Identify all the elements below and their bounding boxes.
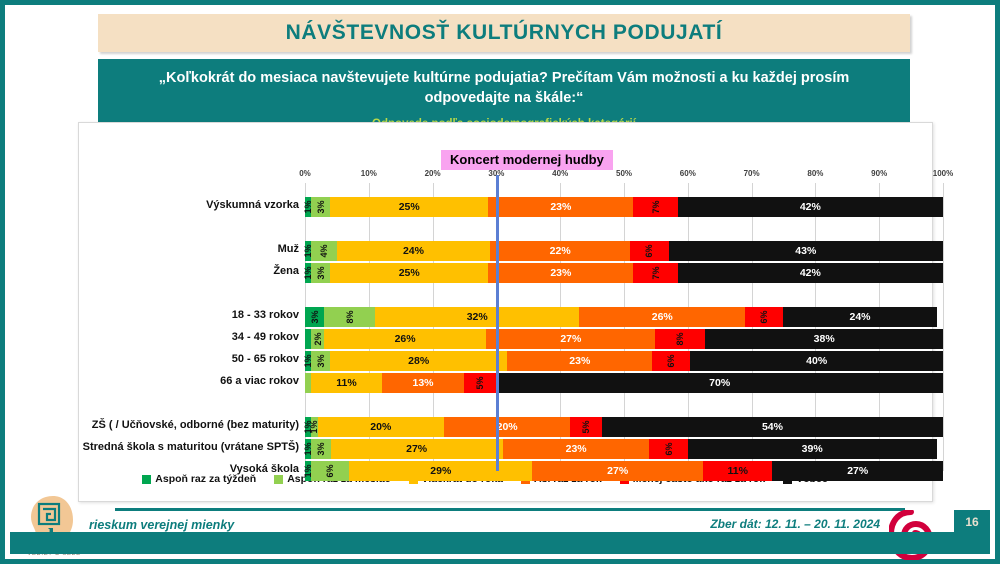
bar-segment: 13% bbox=[382, 373, 465, 393]
chart-row: 66 a viac rokov11%13%5%70% bbox=[305, 373, 943, 393]
bar-segment: 2% bbox=[311, 329, 324, 349]
bar-segment-value: 38% bbox=[814, 333, 835, 345]
bar-segment: 27% bbox=[772, 461, 943, 481]
bar-segment-value: 4% bbox=[319, 243, 329, 259]
bar-segment: 25% bbox=[330, 263, 488, 283]
bar-segment: 6% bbox=[652, 351, 690, 371]
bar-segment-value: 32% bbox=[467, 311, 488, 323]
bar-segment-value: 54% bbox=[762, 421, 783, 433]
stacked-bar: 1%3%28%23%6%40% bbox=[305, 351, 943, 371]
bar-segment-value: 29% bbox=[430, 465, 451, 477]
x-axis-tick-label: 80% bbox=[807, 169, 823, 178]
stacked-bar-chart: 0%10%20%30%40%50%60%70%80%90%100%Výskumn… bbox=[305, 183, 943, 471]
bar-segment-value: 27% bbox=[406, 443, 427, 455]
bar-segment: 20% bbox=[318, 417, 444, 437]
bar-segment: 5% bbox=[570, 417, 602, 437]
chart-row: 34 - 49 rokov2%26%27%8%38% bbox=[305, 329, 943, 349]
bar-segment-value: 6% bbox=[325, 463, 335, 479]
bar-segment: 70% bbox=[496, 373, 943, 393]
bar-segment: 3% bbox=[311, 351, 330, 371]
bar-segment: 42% bbox=[678, 197, 943, 217]
bar-segment-value: 42% bbox=[800, 267, 821, 279]
chart-row: Žena1%3%25%23%7%42% bbox=[305, 263, 943, 283]
row-category-label: Výskumná vzorka bbox=[206, 199, 299, 211]
annotation-marker-line bbox=[496, 175, 499, 471]
chart-row: Muž1%4%24%22%6%43% bbox=[305, 241, 943, 261]
bar-segment-value: 42% bbox=[800, 201, 821, 213]
stacked-bar: 1%4%24%22%6%43% bbox=[305, 241, 943, 261]
bar-segment: 8% bbox=[324, 307, 375, 327]
bar-segment: 29% bbox=[349, 461, 532, 481]
bar-segment-value: 6% bbox=[666, 353, 676, 369]
bar-segment: 24% bbox=[337, 241, 490, 261]
footer-tagline: rieskum verejnej mienky bbox=[89, 518, 234, 532]
bar-segment: 32% bbox=[375, 307, 579, 327]
x-axis-tick-label: 100% bbox=[933, 169, 953, 178]
bar-segment: 27% bbox=[331, 439, 503, 459]
bar-segment: 40% bbox=[690, 351, 943, 371]
bar-segment-value: 3% bbox=[310, 309, 320, 325]
bar-segment: 7% bbox=[633, 197, 677, 217]
row-category-label: 18 - 33 rokov bbox=[232, 309, 299, 321]
bar-segment: 4% bbox=[311, 241, 337, 261]
bar-segment: 11% bbox=[703, 461, 772, 481]
bar-segment: 3% bbox=[311, 439, 330, 459]
stacked-bar: 1%3%25%23%7%42% bbox=[305, 263, 943, 283]
bar-segment-value: 23% bbox=[550, 201, 571, 213]
bar-segment-value: 39% bbox=[802, 443, 823, 455]
stacked-bar: 1%3%25%23%7%42% bbox=[305, 197, 943, 217]
bar-segment-value: 20% bbox=[370, 421, 391, 433]
bar-segment: 5% bbox=[464, 373, 496, 393]
stacked-bar: 1%1%20%20%5%54% bbox=[305, 417, 943, 437]
bar-segment-value: 20% bbox=[497, 421, 518, 433]
bar-segment: 27% bbox=[532, 461, 703, 481]
bar-segment-value: 6% bbox=[644, 243, 654, 259]
stacked-bar: 11%13%5%70% bbox=[305, 373, 943, 393]
bar-segment-value: 8% bbox=[675, 331, 685, 347]
bar-segment-value: 13% bbox=[413, 377, 434, 389]
row-category-label: 50 - 65 rokov bbox=[232, 353, 299, 365]
chart-row: ZŠ ( / Učňovské, odborné (bez maturity)1… bbox=[305, 417, 943, 437]
chart-row: Výskumná vzorka1%3%25%23%7%42% bbox=[305, 197, 943, 217]
bar-segment: 6% bbox=[745, 307, 783, 327]
legend-swatch-icon bbox=[274, 475, 283, 484]
bar-segment: 27% bbox=[486, 329, 655, 349]
page-number: 16 bbox=[965, 515, 978, 529]
bar-segment-value: 3% bbox=[316, 199, 326, 215]
bar-segment: 26% bbox=[324, 329, 487, 349]
row-category-label: Žena bbox=[273, 265, 299, 277]
bar-segment: 23% bbox=[488, 197, 633, 217]
x-axis-tick-label: 0% bbox=[299, 169, 311, 178]
footer-date: Zber dát: 12. 11. – 20. 11. 2024 bbox=[710, 517, 880, 531]
bar-segment-value: 3% bbox=[316, 441, 326, 457]
bar-segment: 28% bbox=[330, 351, 507, 371]
bar-segment-value: 6% bbox=[759, 309, 769, 325]
bar-segment-value: 25% bbox=[399, 267, 420, 279]
stacked-bar: 1%6%29%27%11%27% bbox=[305, 461, 943, 481]
bar-segment: 42% bbox=[678, 263, 943, 283]
bar-segment-value: 11% bbox=[336, 377, 356, 389]
legend-label: Aspoň raz za týždeň bbox=[155, 473, 256, 485]
bar-segment: 7% bbox=[633, 263, 677, 283]
stacked-bar: 2%26%27%8%38% bbox=[305, 329, 943, 349]
bar-segment: 54% bbox=[602, 417, 943, 437]
x-axis-tick-label: 20% bbox=[425, 169, 441, 178]
bar-segment-value: 24% bbox=[403, 245, 424, 257]
bar-segment: 8% bbox=[655, 329, 705, 349]
bar-segment-value: 26% bbox=[652, 311, 673, 323]
bar-segment-value: 24% bbox=[850, 311, 871, 323]
slide-frame: NÁVŠTEVNOSŤ KULTÚRNYCH PODUJATÍ „Koľkokr… bbox=[0, 0, 1000, 564]
bar-segment: 6% bbox=[311, 461, 349, 481]
bar-segment: 22% bbox=[490, 241, 630, 261]
bar-segment: 3% bbox=[311, 197, 330, 217]
bar-segment-value: 22% bbox=[550, 245, 571, 257]
slide-title-banner: NÁVŠTEVNOSŤ KULTÚRNYCH PODUJATÍ bbox=[98, 14, 910, 52]
bar-segment-value: 40% bbox=[806, 355, 827, 367]
bar-segment-value: 70% bbox=[709, 377, 730, 389]
page-title: NÁVŠTEVNOSŤ KULTÚRNYCH PODUJATÍ bbox=[286, 21, 723, 45]
bar-segment: 23% bbox=[507, 351, 652, 371]
footer-divider bbox=[115, 508, 905, 511]
bar-segment-value: 7% bbox=[651, 265, 661, 281]
bar-segment: 39% bbox=[688, 439, 937, 459]
chart-row: 50 - 65 rokov1%3%28%23%6%40% bbox=[305, 351, 943, 371]
bar-segment-value: 27% bbox=[560, 333, 581, 345]
row-category-label: 66 a viac rokov bbox=[220, 375, 299, 387]
legend-item[interactable]: Aspoň raz za týždeň bbox=[142, 473, 256, 485]
x-axis-tick-label: 90% bbox=[871, 169, 887, 178]
bar-segment-value: 28% bbox=[408, 355, 429, 367]
bar-segment-value: 6% bbox=[664, 441, 674, 457]
legend-swatch-icon bbox=[142, 475, 151, 484]
stacked-bar: 1%3%27%23%6%39% bbox=[305, 439, 943, 459]
bar-segment-value: 3% bbox=[316, 353, 326, 369]
bar-segment: 3% bbox=[311, 263, 330, 283]
bar-segment: 43% bbox=[669, 241, 943, 261]
row-category-label: Muž bbox=[278, 243, 299, 255]
bar-segment-value: 23% bbox=[550, 267, 571, 279]
page-number-badge: 16 bbox=[954, 510, 990, 554]
chart-row: Stredná škola s maturitou (vrátane SPTŠ)… bbox=[305, 439, 943, 459]
bar-segment-value: 8% bbox=[345, 309, 355, 325]
chart-row: Vysoká škola1%6%29%27%11%27% bbox=[305, 461, 943, 481]
row-category-label: ZŠ ( / Učňovské, odborné (bez maturity) bbox=[92, 419, 299, 431]
x-axis-tick-label: 70% bbox=[744, 169, 760, 178]
bar-segment-value: 23% bbox=[566, 443, 587, 455]
x-axis-tick-label: 10% bbox=[361, 169, 377, 178]
question-text: „Koľkokrát do mesiaca navštevujete kultú… bbox=[122, 68, 886, 108]
bar-segment: 3% bbox=[305, 307, 324, 327]
bar-segment-value: 5% bbox=[581, 419, 591, 435]
x-axis-tick-label: 60% bbox=[680, 169, 696, 178]
bar-segment-value: 11% bbox=[727, 465, 747, 477]
bar-segment-value: 43% bbox=[795, 245, 816, 257]
x-axis-tick-label: 50% bbox=[616, 169, 632, 178]
bar-segment-value: 2% bbox=[313, 331, 323, 347]
bar-segment: 11% bbox=[311, 373, 381, 393]
bar-segment-value: 23% bbox=[569, 355, 590, 367]
chart-row: 18 - 33 rokov3%8%32%26%6%24% bbox=[305, 307, 943, 327]
bar-segment: 25% bbox=[330, 197, 488, 217]
row-category-label: 34 - 49 rokov bbox=[232, 331, 299, 343]
row-category-label: Stredná škola s maturitou (vrátane SPTŠ) bbox=[83, 441, 299, 453]
bar-segment-value: 26% bbox=[395, 333, 416, 345]
bar-segment: 26% bbox=[579, 307, 745, 327]
bar-segment: 24% bbox=[783, 307, 936, 327]
bar-segment: 6% bbox=[649, 439, 687, 459]
gridline bbox=[943, 183, 944, 471]
x-axis-tick-label: 40% bbox=[552, 169, 568, 178]
bar-segment-value: 5% bbox=[475, 375, 485, 391]
bar-segment: 6% bbox=[630, 241, 668, 261]
bar-segment: 20% bbox=[444, 417, 570, 437]
bar-segment: 23% bbox=[488, 263, 633, 283]
bar-segment-value: 7% bbox=[651, 199, 661, 215]
stacked-bar: 3%8%32%26%6%24% bbox=[305, 307, 943, 327]
bar-segment-value: 3% bbox=[316, 265, 326, 281]
bar-segment-value: 25% bbox=[399, 201, 420, 213]
bar-segment-value: 27% bbox=[607, 465, 628, 477]
footer-bar bbox=[10, 532, 990, 554]
bar-segment-value: 27% bbox=[847, 465, 868, 477]
bar-segment: 23% bbox=[503, 439, 650, 459]
annotation-koncert-modernej-hudby: Koncert modernej hudby bbox=[441, 150, 613, 170]
bar-segment: 38% bbox=[705, 329, 943, 349]
